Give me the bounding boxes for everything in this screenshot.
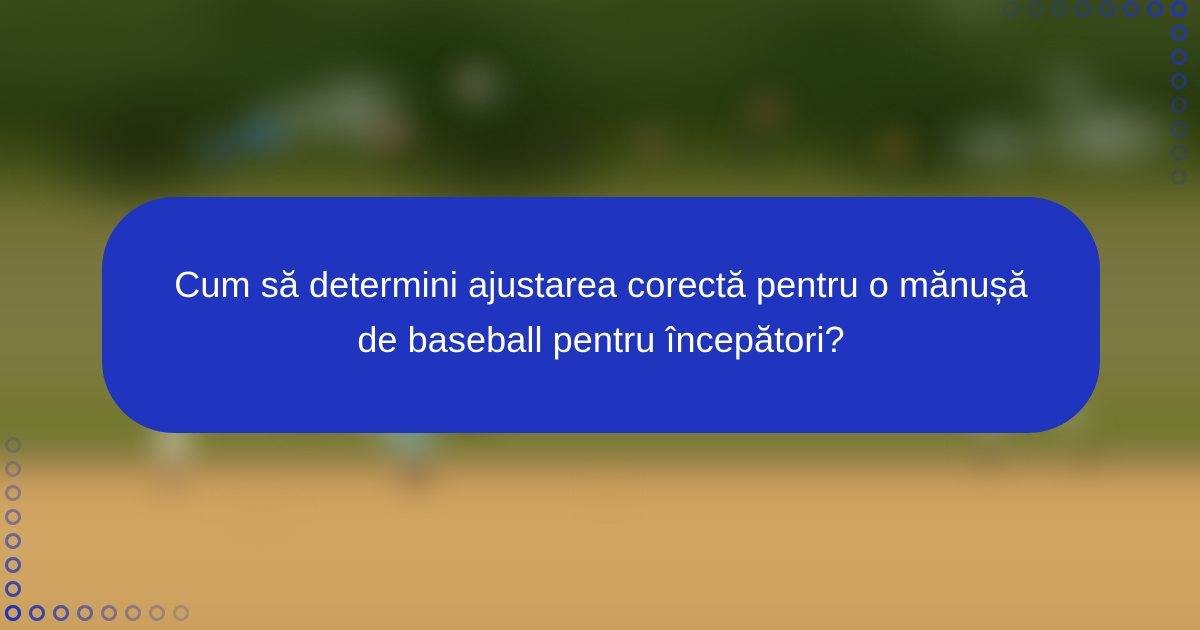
social-card-canvas: Cum să determini ajustarea corectă pentr… xyxy=(0,0,1200,630)
quote-card: Cum să determini ajustarea corectă pentr… xyxy=(102,197,1100,433)
decorative-dot xyxy=(1171,145,1187,161)
decorative-dot xyxy=(1171,73,1187,89)
decorative-dot xyxy=(1171,25,1187,41)
decorative-dot xyxy=(29,605,45,621)
decorative-dot xyxy=(1171,1,1187,17)
decorative-dot xyxy=(1099,1,1115,17)
decorative-dot xyxy=(5,485,21,501)
decorative-dot xyxy=(5,509,21,525)
decorative-dot xyxy=(149,605,165,621)
decorative-dot xyxy=(1147,1,1163,17)
decorative-dot xyxy=(5,437,21,453)
decorative-dot xyxy=(125,605,141,621)
decorative-dot xyxy=(1051,1,1067,17)
decorative-dot xyxy=(1075,1,1091,17)
decorative-dot xyxy=(5,461,21,477)
decorative-dot xyxy=(1027,1,1043,17)
decorative-dot xyxy=(173,605,189,621)
decorative-dot xyxy=(5,533,21,549)
decorative-dot xyxy=(1123,1,1139,17)
quote-text: Cum să determini ajustarea corectă pentr… xyxy=(172,258,1030,367)
decorative-dot xyxy=(5,605,21,621)
decorative-dot xyxy=(1171,169,1187,185)
decorative-dot xyxy=(77,605,93,621)
decorative-dot xyxy=(5,581,21,597)
decorative-dot xyxy=(101,605,117,621)
decorative-dot xyxy=(1171,97,1187,113)
decorative-dot xyxy=(53,605,69,621)
decorative-dot xyxy=(1003,1,1019,17)
decorative-dot xyxy=(1171,49,1187,65)
decorative-dot xyxy=(5,557,21,573)
decorative-dot xyxy=(1171,121,1187,137)
